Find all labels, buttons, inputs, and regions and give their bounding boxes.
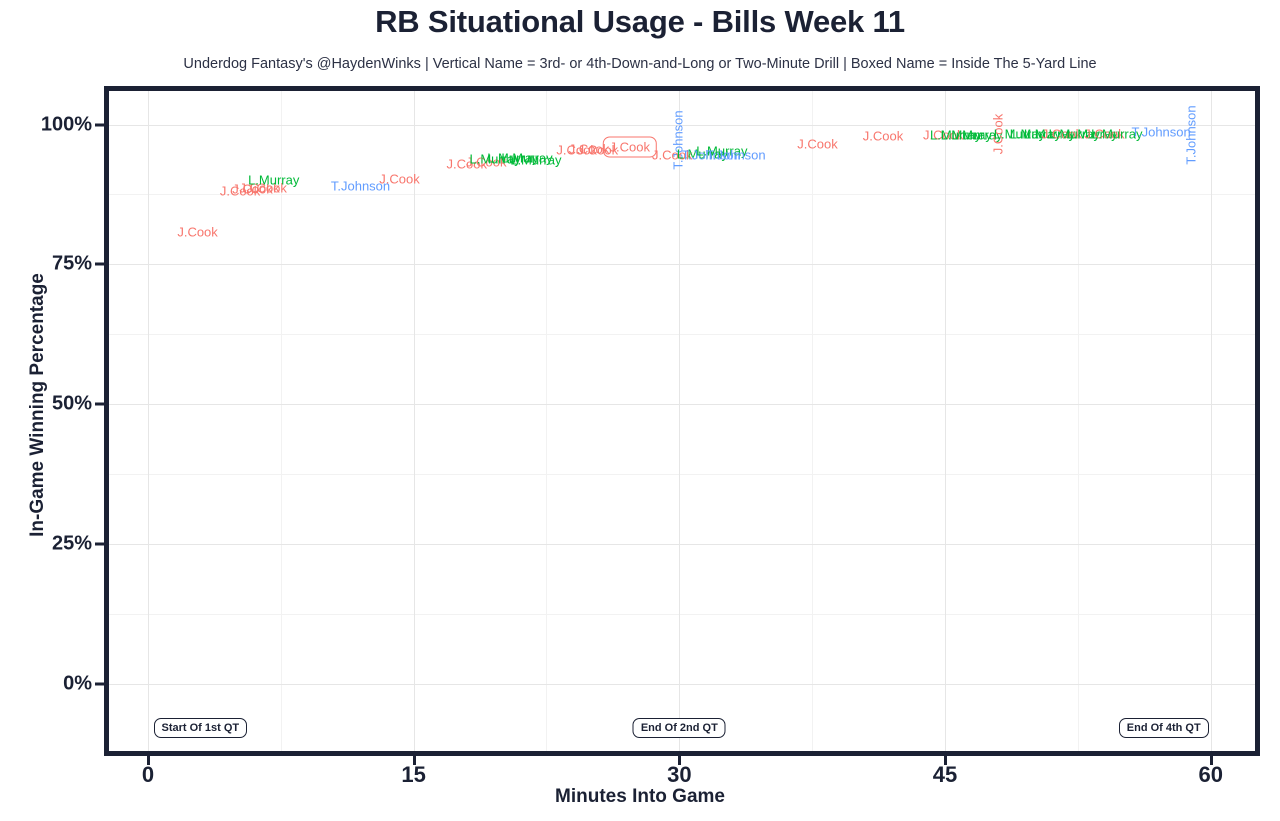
x-tick-mark [1210,756,1213,765]
data-label-j-cook: J.Cook [177,225,217,238]
y-tick-mark [95,263,104,266]
quarter-annotation: End Of 2nd QT [633,718,726,738]
data-label-t-johnson: T.Johnson [1131,126,1190,139]
data-label-j-cook: J.Cook [379,172,419,185]
chart-title: RB Situational Usage - Bills Week 11 [0,4,1280,40]
x-tick-mark [944,756,947,765]
y-tick-label: 50% [0,393,92,416]
chart-subtitle: Underdog Fantasy's @HaydenWinks | Vertic… [0,56,1280,72]
data-label-l-murray: L.Murray [248,173,299,186]
data-label-t-johnson: T.Johnson [1185,105,1198,164]
gridline-major-vertical [945,91,946,751]
gridline-major-horizontal [109,404,1255,405]
data-label-j-cook: J.Cook [797,137,837,150]
y-tick-label: 0% [0,672,92,695]
gridline-major-vertical [1211,91,1212,751]
gridline-major-horizontal [109,684,1255,685]
x-tick-mark [147,756,150,765]
x-axis-title: Minutes Into Game [0,786,1280,808]
data-label-j-cook: J.Cook [603,136,657,157]
data-label-t-johnson: T.Johnson [706,148,765,161]
x-tick-label: 15 [354,762,474,788]
x-tick-label: 30 [619,762,739,788]
x-tick-mark [678,756,681,765]
gridline-major-horizontal [109,544,1255,545]
data-label-j-cook: J.Cook [863,129,903,142]
data-label-l-murray: L.Murray [510,154,561,167]
y-tick-mark [95,123,104,126]
x-tick-label: 60 [1151,762,1271,788]
quarter-annotation: Start Of 1st QT [154,718,248,738]
plot-panel: J.CookJ.CookJ.CookJ.CookJ.CookL.MurrayT.… [104,86,1260,756]
x-tick-label: 45 [885,762,1005,788]
gridline-minor-vertical [1078,91,1079,751]
y-tick-mark [95,682,104,685]
chart-root: RB Situational Usage - Bills Week 11 Und… [0,0,1280,821]
gridline-major-vertical [679,91,680,751]
plot-area: J.CookJ.CookJ.CookJ.CookJ.CookL.MurrayT.… [109,91,1255,751]
y-tick-mark [95,543,104,546]
quarter-annotation: End Of 4th QT [1119,718,1209,738]
y-tick-label: 100% [0,113,92,136]
x-tick-mark [413,756,416,765]
y-tick-mark [95,403,104,406]
y-tick-label: 25% [0,533,92,556]
gridline-major-horizontal [109,264,1255,265]
gridline-major-vertical [148,91,149,751]
x-tick-label: 0 [88,762,208,788]
gridline-major-vertical [414,91,415,751]
gridline-minor-vertical [812,91,813,751]
gridline-minor-vertical [546,91,547,751]
y-tick-label: 75% [0,253,92,276]
